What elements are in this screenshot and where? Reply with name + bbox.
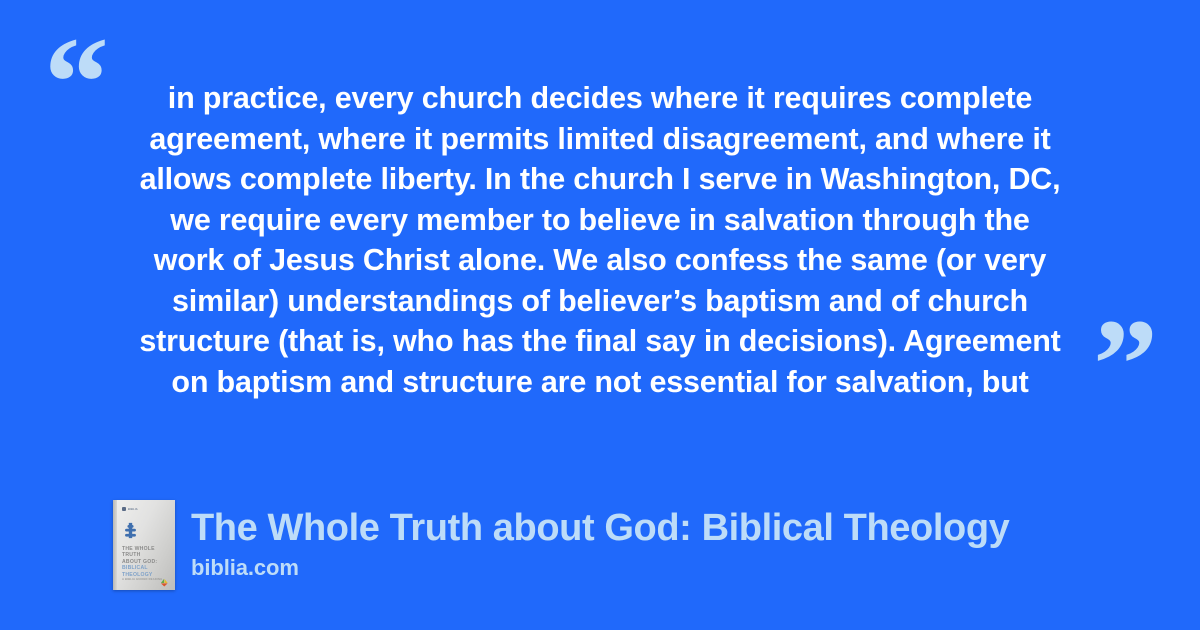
quote-line: similar) understandings of believer’s ba… (112, 281, 1088, 322)
quote-line: agreement, where it permits limited disa… (112, 119, 1088, 160)
cover-author: A Biblia Guided Reading (122, 578, 162, 581)
cover-title-line: TRUTH (122, 552, 141, 558)
opening-quote-icon: “ (44, 18, 107, 148)
site-domain: biblia.com (191, 555, 1009, 581)
book-title: The Whole Truth about God: Biblical Theo… (191, 506, 1009, 550)
cover-subtitle-line: BIBLICAL (122, 565, 148, 571)
cover-title-line: ABOUT GOD: (122, 559, 157, 565)
quote-line: work of Jesus Christ alone. We also conf… (112, 240, 1088, 281)
quote-line: in practice, every church decides where … (112, 78, 1088, 119)
book-cover-thumbnail: Biblia THE WHOLE TRUTH ABOUT GOD: BIBLIC… (113, 500, 175, 590)
quote-line: allows complete liberty. In the church I… (112, 159, 1088, 200)
closing-quote-icon: ” (1093, 300, 1156, 430)
book-spine (113, 500, 117, 590)
quote-line: we require every member to believe in sa… (112, 200, 1088, 241)
cover-brand: Biblia (122, 507, 138, 511)
source-attribution: Biblia THE WHOLE TRUTH ABOUT GOD: BIBLIC… (113, 500, 1009, 590)
publisher-logo-icon (160, 574, 169, 583)
footer-text-block: The Whole Truth about God: Biblical Theo… (191, 500, 1009, 581)
quote-text: in practice, every church decides where … (112, 78, 1088, 402)
quote-card: “ ” in practice, every church decides wh… (0, 0, 1200, 630)
quote-line: structure (that is, who has the final sa… (112, 321, 1088, 362)
cover-brand-label: Biblia (128, 508, 138, 511)
puzzle-piece-icon (122, 522, 139, 539)
cover-brand-dot-icon (122, 507, 126, 511)
quote-line: on baptism and structure are not essenti… (112, 362, 1088, 403)
cover-subtitle-line: THEOLOGY (122, 572, 153, 578)
cover-title-line: THE WHOLE (122, 546, 155, 552)
